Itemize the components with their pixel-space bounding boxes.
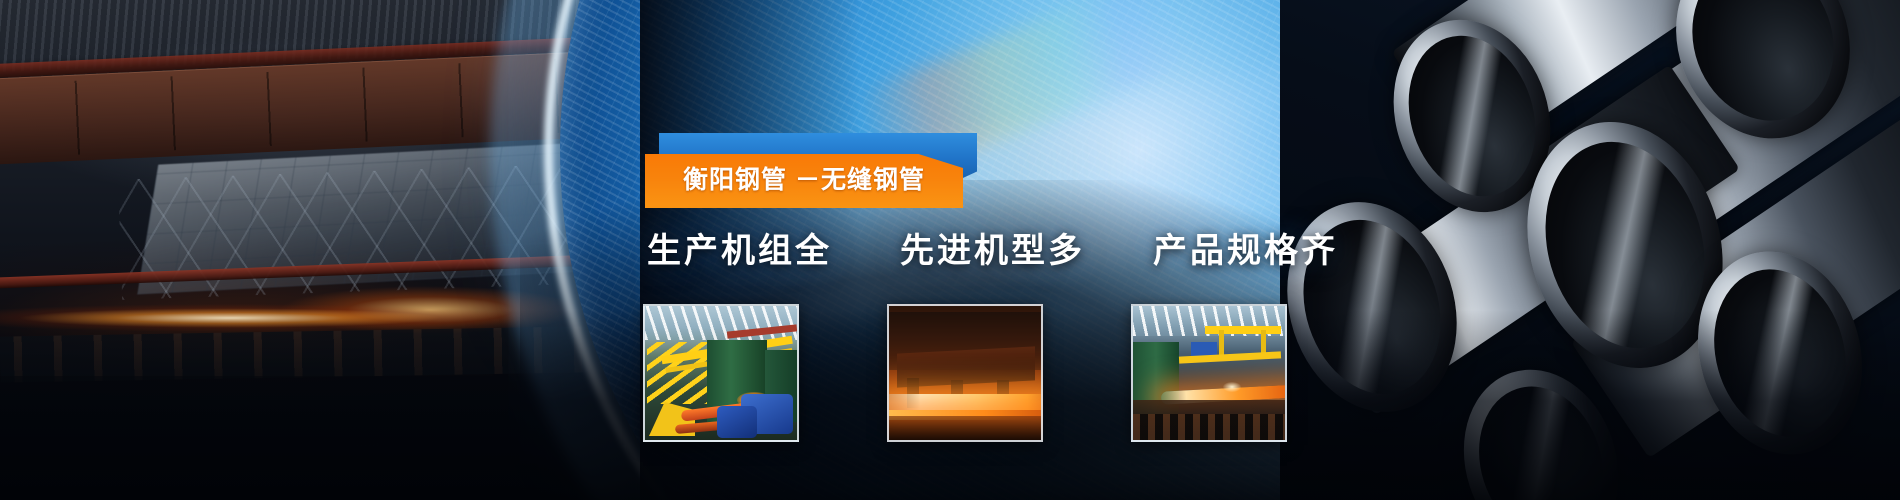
thumbnail-rolling-mill-hall[interactable] xyxy=(643,304,799,442)
banner-content: 衡阳钢管 －无缝钢管 生产机组全 先进机型多 产品规格齐 xyxy=(0,0,1900,500)
thumb3-floor-detail xyxy=(1133,414,1285,440)
headline-item-2: 先进机型多 xyxy=(900,234,1085,268)
thumb2-hot-billet xyxy=(887,394,1043,410)
thumb1-roof xyxy=(645,306,797,340)
thumb2-floor xyxy=(889,416,1041,440)
thumb1-blue-motor-2 xyxy=(717,406,757,438)
brand-tag-orange-body: 衡阳钢管 －无缝钢管 xyxy=(645,154,963,208)
headline-group: 生产机组全 先进机型多 产品规格齐 xyxy=(647,234,1338,268)
headline-item-3: 产品规格齐 xyxy=(1153,234,1338,268)
promo-banner: 衡阳钢管 －无缝钢管 生产机组全 先进机型多 产品规格齐 xyxy=(0,0,1900,500)
thumb3-spark xyxy=(1223,382,1241,392)
thumbnail-strip xyxy=(643,304,1287,442)
thumbnail-hot-billet-furnace[interactable] xyxy=(887,304,1043,442)
headline-item-1: 生产机组全 xyxy=(647,234,832,268)
thumb3-yellow-platform-1 xyxy=(1205,326,1281,334)
thumbnail-hot-rolling-line[interactable] xyxy=(1131,304,1287,442)
brand-tag-label: 衡阳钢管 －无缝钢管 xyxy=(683,168,925,195)
